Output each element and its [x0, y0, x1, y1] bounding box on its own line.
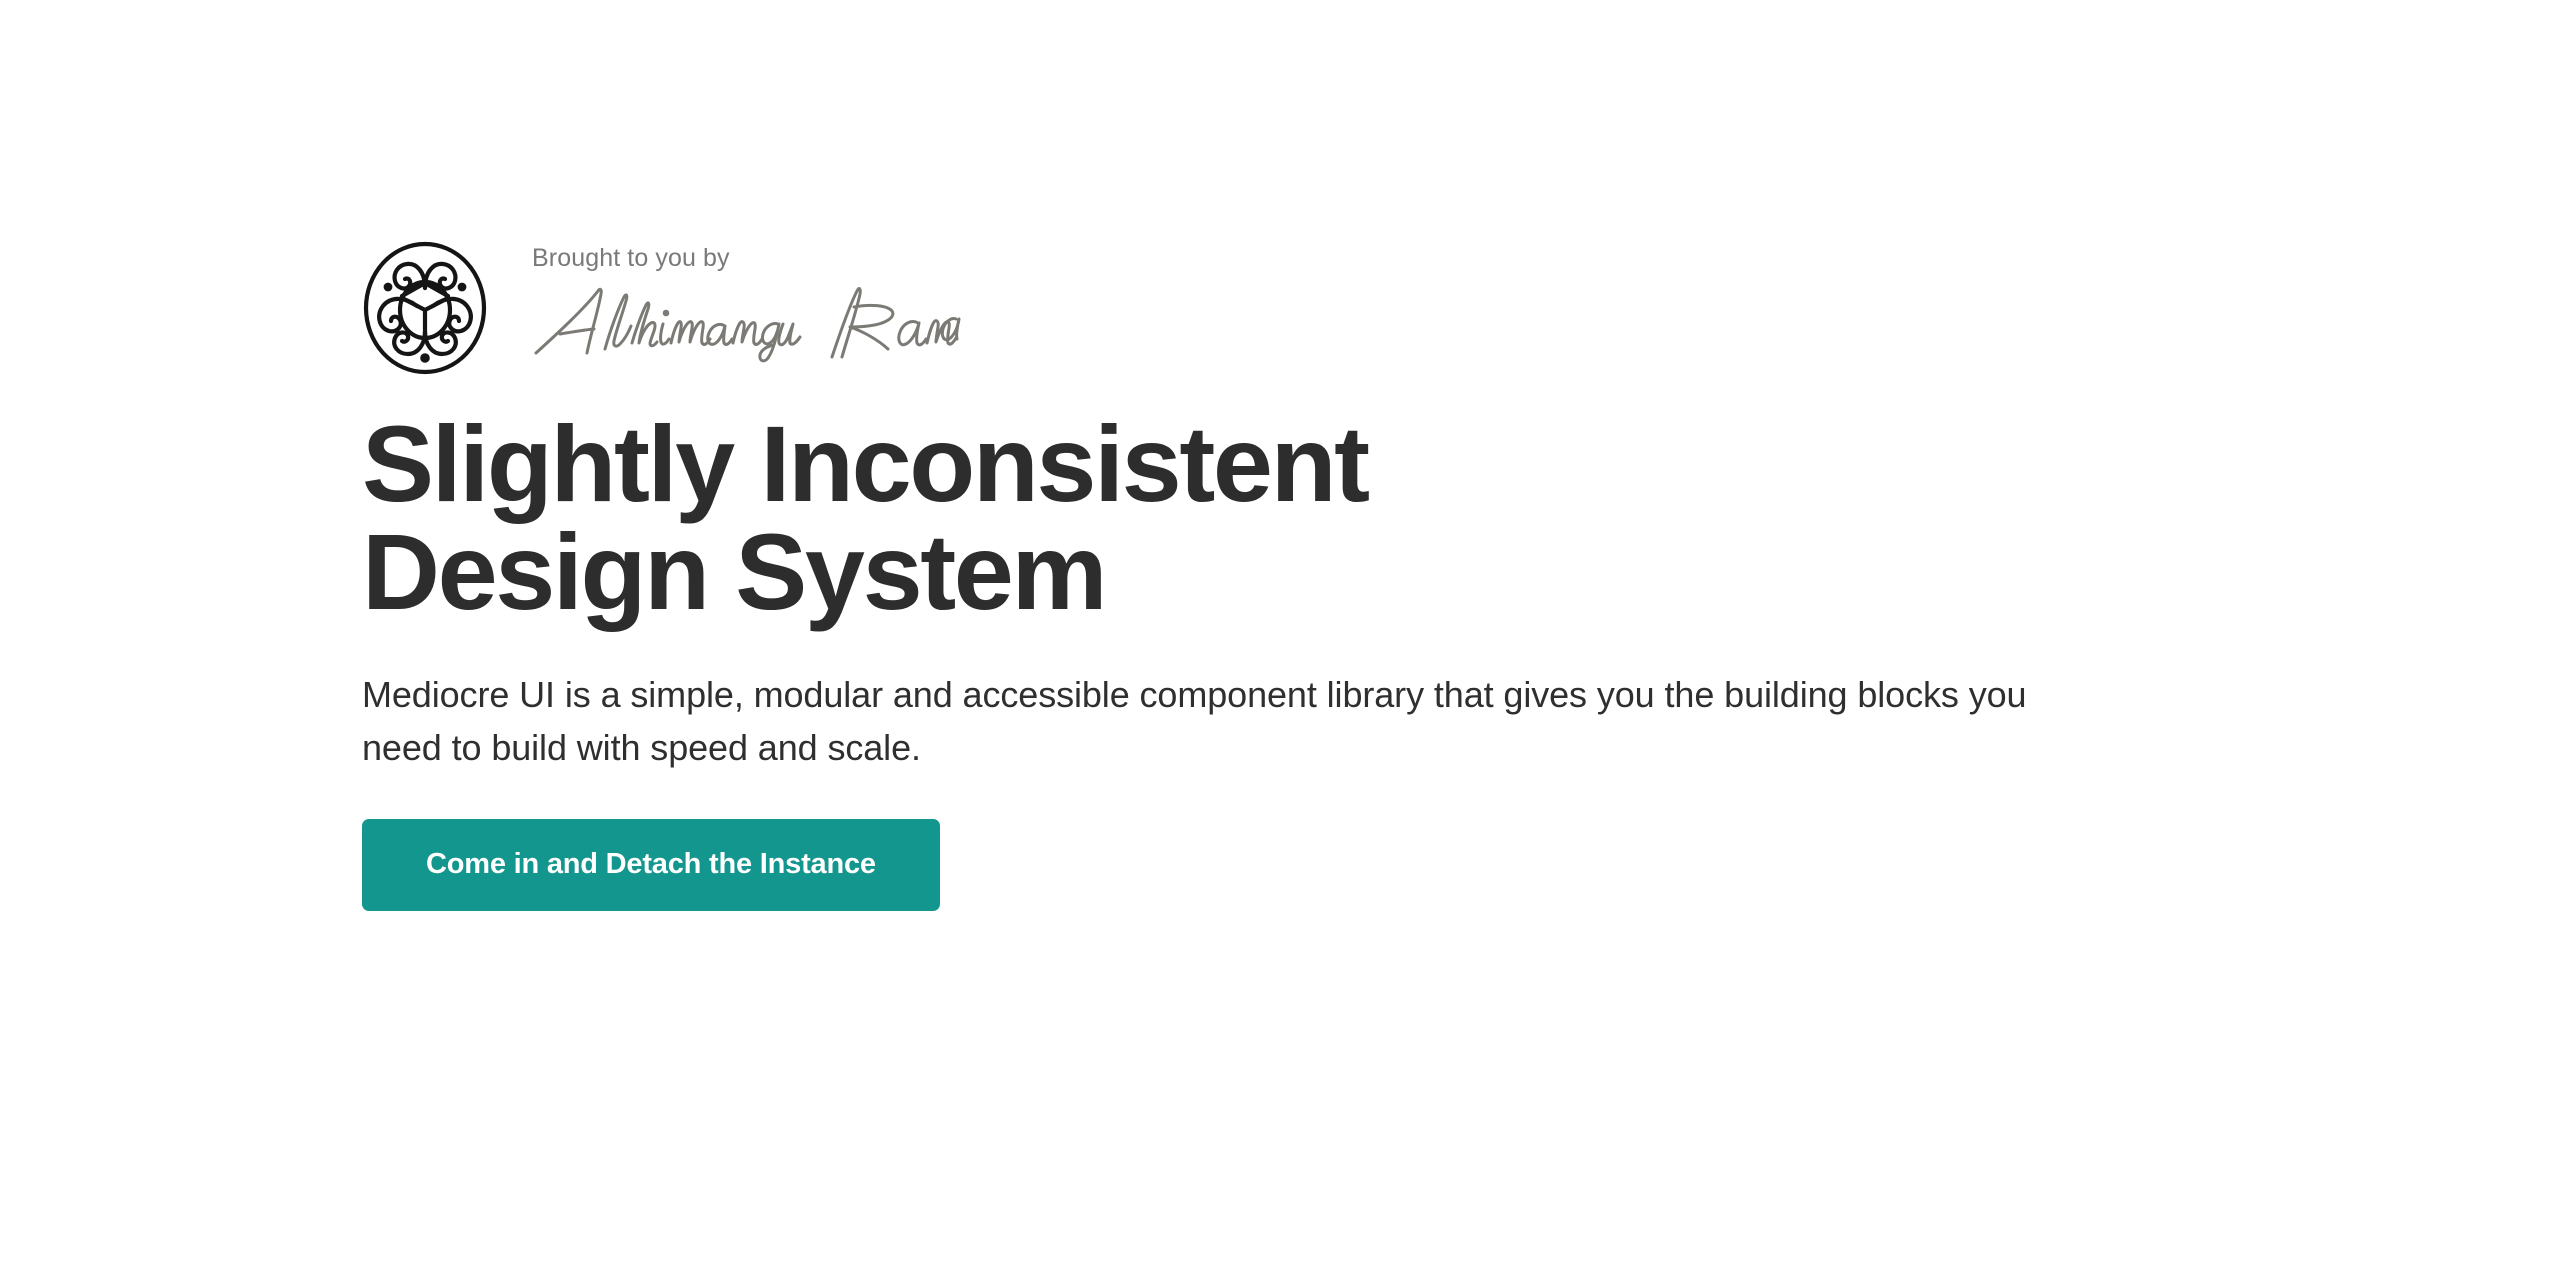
page-title: Slightly Inconsistent Design System: [362, 380, 1862, 626]
cta-container: Come in and Detach the Instance: [362, 775, 2162, 911]
brought-to-you-by-label: Brought to you by: [532, 245, 962, 273]
hero-section: Brought to you by: [362, 240, 2162, 911]
signature-abhimanyu-rana: [532, 277, 962, 363]
headline-line-1: Slightly Inconsistent: [362, 403, 1368, 524]
hero-page: Brought to you by: [0, 0, 2560, 1280]
mandala-emblem-logo: [362, 240, 488, 376]
attribution-text: Brought to you by: [532, 240, 962, 363]
attribution-block: Brought to you by: [362, 240, 2162, 380]
hero-description: Mediocre UI is a simple, modular and acc…: [362, 626, 2107, 775]
come-in-and-detach-the-instance-button[interactable]: Come in and Detach the Instance: [362, 819, 940, 911]
headline-line-2: Design System: [362, 511, 1105, 632]
